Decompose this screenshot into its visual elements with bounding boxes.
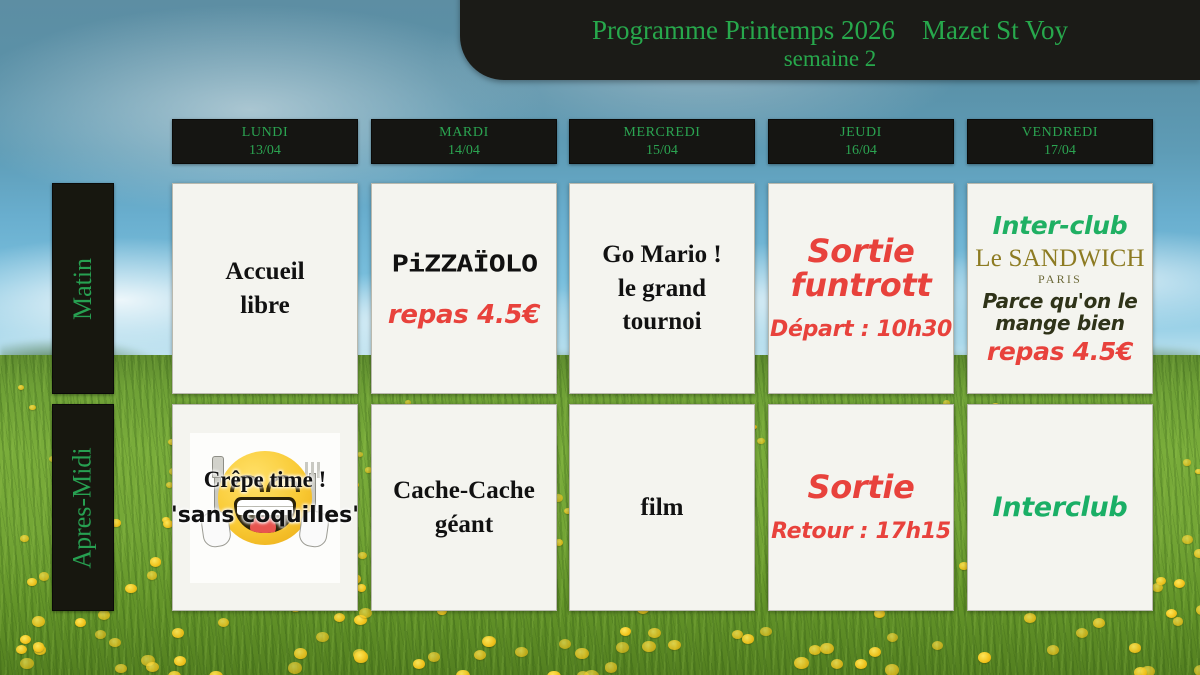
cell-mercredi-apres-midi[interactable]: film	[569, 404, 755, 611]
day-name: VENDREDI	[1022, 124, 1098, 142]
activity-title: Crêpe time !	[172, 467, 358, 493]
cell-mardi-matin[interactable]: PiZZAÏOLO repas 4.5€	[371, 183, 557, 394]
activity-line3: tournoi	[622, 305, 701, 339]
activity-subtitle: funtrott	[791, 269, 932, 303]
day-date: 13/04	[249, 142, 281, 160]
activity-subtitle: libre	[240, 289, 290, 323]
day-name: MARDI	[439, 124, 489, 142]
day-header-mercredi: MERCREDI 15/04	[569, 119, 755, 164]
day-header-jeudi: JEUDI 16/04	[768, 119, 954, 164]
activity-subtitle: "sans coquilles"	[172, 503, 358, 528]
day-name: JEUDI	[840, 124, 882, 142]
sandwich-slogan-line1: Parce qu'on le	[983, 290, 1138, 312]
day-header-vendredi: VENDREDI 17/04	[967, 119, 1153, 164]
day-date: 16/04	[845, 142, 877, 160]
cell-vendredi-matin[interactable]: Inter-club Le SANDWICH PARIS Parce qu'on…	[967, 183, 1153, 394]
schedule-grid: LUNDI 13/04 MARDI 14/04 MERCREDI 15/04 J…	[0, 0, 1200, 675]
return-time: Retour : 17h15	[771, 519, 951, 544]
title-banner: Programme Printemps 2026 Mazet St Voy se…	[460, 0, 1200, 80]
sandwich-logo-le: Le	[975, 245, 1002, 272]
cell-jeudi-matin[interactable]: Sortie funtrott Départ : 10h30	[768, 183, 954, 394]
activity-title: Cache-Cache	[393, 474, 535, 508]
page-title: Programme Printemps 2026 Mazet St Voy	[592, 15, 1068, 45]
smiley-face-icon	[218, 451, 312, 545]
row-label-apres-midi: Apres-Midi	[52, 404, 114, 611]
crepe-illustration: Crêpe time ! "sans coquilles"	[190, 433, 340, 583]
cell-mardi-apres-midi[interactable]: Cache-Cache géant	[371, 404, 557, 611]
day-name: MERCREDI	[623, 124, 700, 142]
sandwich-logo-city: PARIS	[1038, 272, 1082, 287]
departure-time: Départ : 10h30	[770, 317, 952, 342]
activity-title: Sortie	[808, 471, 915, 505]
sandwich-logo: Le SANDWICH	[975, 246, 1145, 271]
activity-title: film	[640, 491, 683, 525]
row-label-matin: Matin	[52, 183, 114, 394]
cell-vendredi-apres-midi[interactable]: Interclub	[967, 404, 1153, 611]
row-label-text: Matin	[68, 257, 98, 319]
activity-line2: le grand	[618, 272, 706, 306]
day-name: LUNDI	[242, 124, 289, 142]
activity-title: Sortie	[808, 235, 915, 269]
meal-price: repas 4.5€	[388, 300, 540, 330]
day-date: 15/04	[646, 142, 678, 160]
sandwich-logo-name: SANDWICH	[1008, 245, 1144, 272]
cell-jeudi-apres-midi[interactable]: Sortie Retour : 17h15	[768, 404, 954, 611]
pizzaiolo-logo: PiZZAÏOLO	[391, 250, 537, 277]
day-date: 14/04	[448, 142, 480, 160]
cell-mercredi-matin[interactable]: Go Mario ! le grand tournoi	[569, 183, 755, 394]
day-header-mardi: MARDI 14/04	[371, 119, 557, 164]
page-subtitle: semaine 2	[784, 46, 877, 72]
interclub-label: Inter-club	[993, 211, 1128, 240]
cell-lundi-apres-midi[interactable]: Crêpe time ! "sans coquilles"	[172, 404, 358, 611]
activity-title: Interclub	[993, 492, 1128, 523]
row-label-text: Apres-Midi	[68, 447, 98, 568]
activity-subtitle: géant	[435, 508, 493, 542]
activity-title: Go Mario !	[602, 238, 721, 272]
meal-price: repas 4.5€	[987, 337, 1133, 366]
sandwich-slogan-line2: mange bien	[995, 312, 1124, 334]
day-date: 17/04	[1044, 142, 1076, 160]
cell-lundi-matin[interactable]: Accueil libre	[172, 183, 358, 394]
activity-title: Accueil	[225, 255, 304, 289]
day-header-lundi: LUNDI 13/04	[172, 119, 358, 164]
